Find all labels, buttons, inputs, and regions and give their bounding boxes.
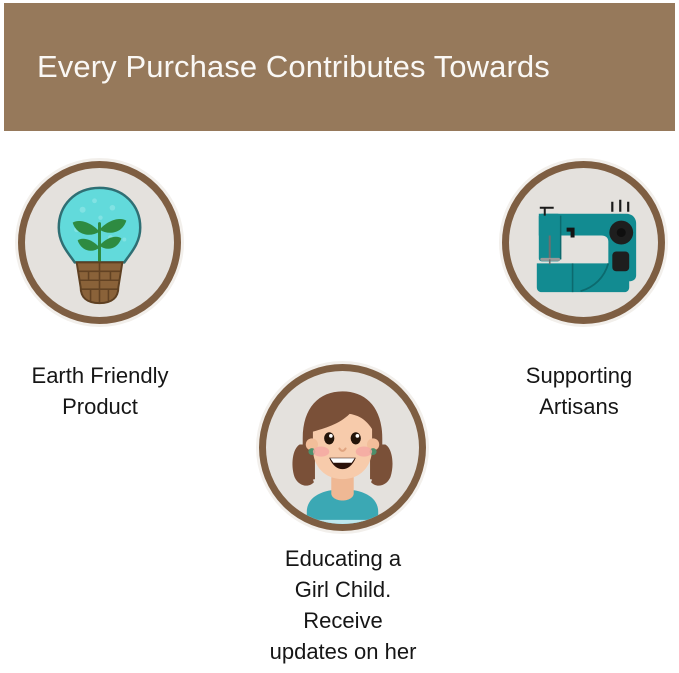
header-banner: Every Purchase Contributes Towards bbox=[4, 3, 675, 131]
girl-child-avatar-icon bbox=[266, 371, 419, 524]
page-title: Every Purchase Contributes Towards bbox=[4, 49, 550, 85]
badge-earth-friendly-product bbox=[18, 161, 181, 324]
caption-educating-a-girl-child: Educating a Girl Child. Receive updates … bbox=[228, 543, 458, 667]
caption-supporting-artisans: Supporting Artisans bbox=[479, 360, 679, 422]
promo-infographic: Every Purchase Contributes Towards bbox=[0, 0, 679, 673]
badge-educating-a-girl-child bbox=[259, 364, 426, 531]
sewing-machine-icon bbox=[509, 168, 658, 317]
caption-earth-friendly-product: Earth Friendly Product bbox=[0, 360, 200, 422]
eco-lightbulb-icon bbox=[25, 168, 174, 317]
badge-supporting-artisans bbox=[502, 161, 665, 324]
